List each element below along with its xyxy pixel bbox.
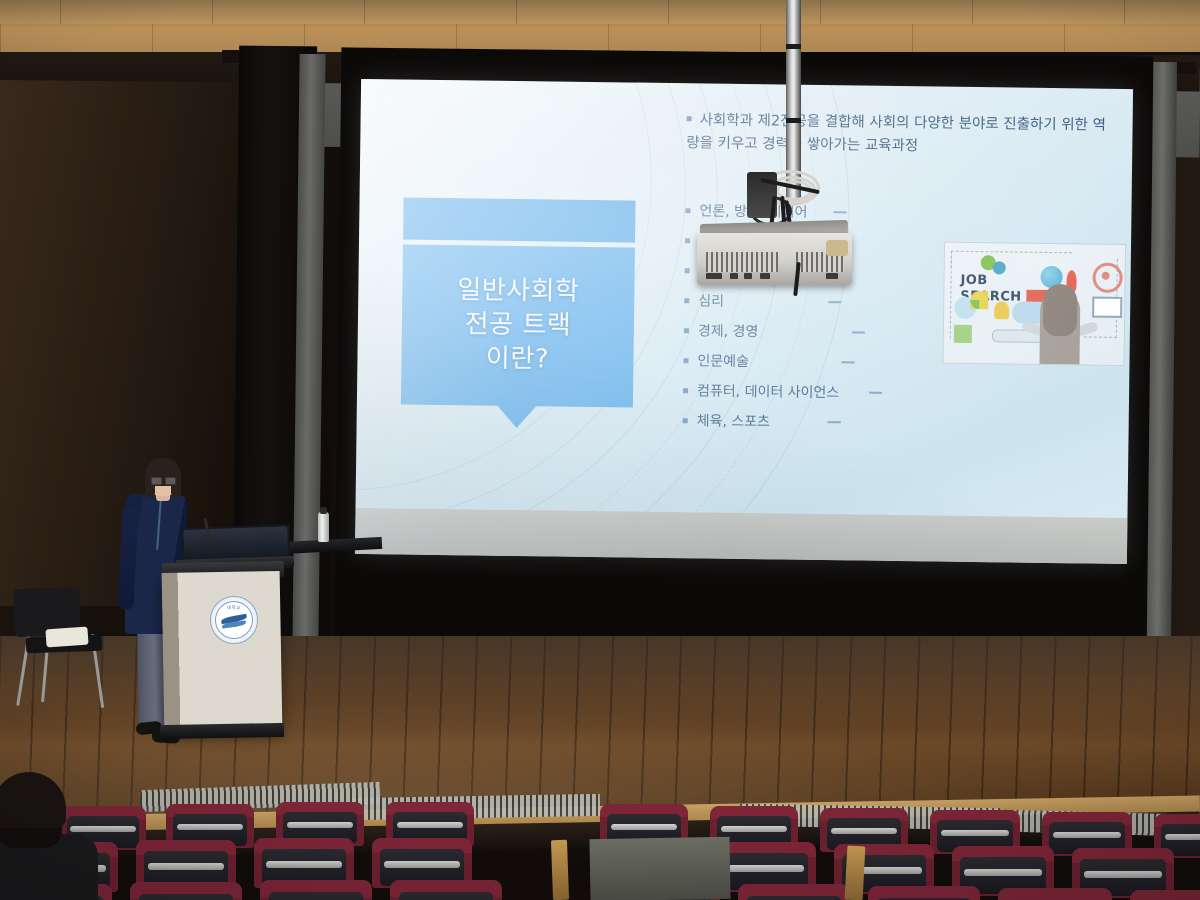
bullet-square-icon [683, 418, 688, 423]
dash-marker-icon [869, 392, 882, 394]
envelope-icon [1092, 297, 1122, 318]
job-search-infographic: JOB SEARCH [942, 242, 1126, 366]
track-label: 인문예술 [697, 350, 749, 371]
university-emblem: 대학교 [210, 596, 258, 644]
projector-lens [826, 240, 848, 256]
slide-title-line-1: 일반사회학 [457, 275, 580, 310]
podium [162, 571, 283, 733]
projector-port [760, 273, 770, 279]
list-item: 컴퓨터, 데이터 사이언스 [683, 375, 1013, 409]
auditorium-seat [738, 884, 850, 900]
track-label: 경제, 경영 [698, 320, 759, 341]
auditorium-seat [260, 880, 372, 900]
audience-member-hair [0, 772, 66, 828]
bullet-square-icon [685, 238, 690, 243]
target-icon [1092, 263, 1122, 293]
bullet-square-icon [685, 268, 690, 273]
bullet-square-icon [684, 328, 689, 333]
dash-marker-icon [841, 361, 854, 363]
auditorium-seat [998, 888, 1112, 900]
slide-title-bubble-tail [496, 404, 538, 429]
bullet-square-icon [685, 208, 690, 213]
lightbulb-icon [994, 301, 1009, 319]
projector-port [826, 273, 838, 279]
bullet-square-icon [684, 298, 689, 303]
track-label: 체육, 스포츠 [697, 410, 771, 431]
projector-port [706, 273, 722, 279]
lecture-hall-photo: 사회학과 제2전공을 결합해 사회의 다양한 분야로 진출하기 위한 역량을 키… [0, 0, 1200, 900]
podium-base [160, 723, 284, 739]
center-aisle [589, 837, 730, 900]
aisle-wood-rail [845, 846, 866, 900]
job-search-line-1: JOB [960, 273, 1021, 290]
list-item: 체육, 스포츠 [683, 405, 1013, 439]
slide-lead-text: 사회학과 제2전공을 결합해 사회의 다양한 분야로 진출하기 위한 역량을 키… [686, 112, 1106, 154]
slide-title-body: 일반사회학 전공 트랙 이란? [401, 245, 635, 408]
eyeglasses-icon [151, 477, 162, 485]
slide-title-text: 일반사회학 전공 트랙 이란? [456, 275, 579, 378]
auditorium-seat [868, 886, 980, 900]
emblem-top-text: 대학교 [211, 605, 257, 611]
auditorium-seat [1130, 890, 1200, 900]
projector-port [730, 273, 738, 279]
dash-marker-icon [828, 301, 841, 303]
projection-screen: 사회학과 제2전공을 결합해 사회의 다양한 분야로 진출하기 위한 역량을 키… [355, 79, 1133, 564]
slide-title-line-2: 전공 트랙 [457, 308, 580, 343]
bullet-square-icon [683, 358, 688, 363]
bullet-square-icon [683, 388, 688, 393]
track-label: 심리 [698, 290, 724, 310]
audience-member [0, 778, 108, 900]
dash-marker-icon [852, 331, 865, 333]
projector-vent [706, 252, 778, 272]
dash-marker-icon [828, 421, 841, 423]
projector-port [744, 273, 752, 279]
slide-title-cap-bar [403, 198, 636, 243]
ceiling-gradient [0, 0, 1200, 52]
eyeglasses-icon [165, 477, 176, 485]
pole-band [786, 44, 801, 49]
slide-title-bubble: 일반사회학 전공 트랙 이란? [401, 198, 636, 408]
dashed-line-decor [950, 251, 953, 339]
aisle-wood-rail [551, 840, 569, 900]
auditorium-seat [390, 880, 502, 900]
chart-decor [954, 325, 972, 343]
slide-title-line-3: 이란? [456, 342, 579, 377]
bottle-cap [320, 507, 327, 514]
pole-band [786, 118, 801, 123]
slide-lead-paragraph: 사회학과 제2전공을 결합해 사회의 다양한 분야로 진출하기 위한 역량을 키… [686, 109, 1112, 162]
track-label: 컴퓨터, 데이터 사이언스 [697, 380, 839, 402]
water-bottle [318, 512, 329, 542]
auditorium-seat [130, 882, 242, 900]
papers-on-chair [45, 627, 88, 648]
bullet-square-icon [687, 116, 692, 121]
person-hair [1043, 284, 1078, 336]
